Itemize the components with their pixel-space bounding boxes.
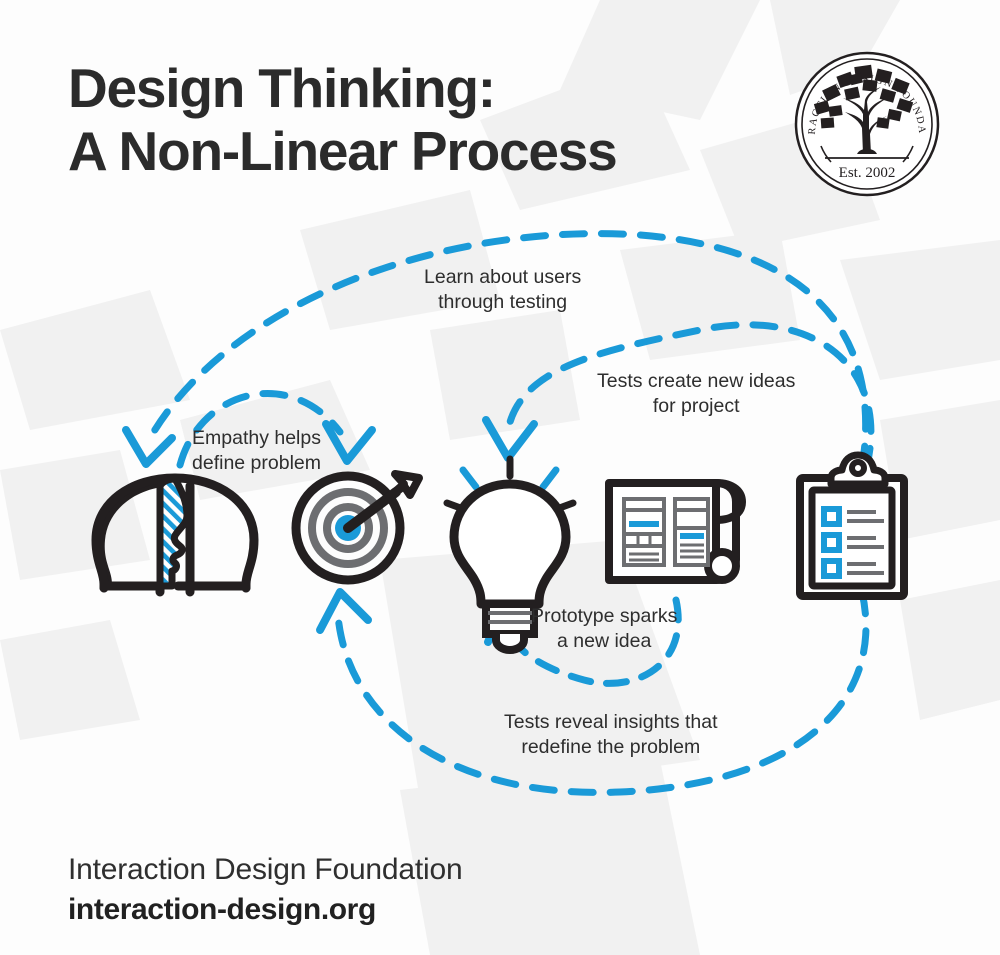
title-line-1: Design Thinking: [68, 57, 708, 120]
caption-empathy-defines-problem: Empathy helps define problem [192, 426, 321, 476]
title-line-2: A Non-Linear Process [68, 120, 708, 183]
caption-line: a new idea [531, 629, 677, 654]
idf-logo[interactable]: INTERACTION DESIGN FOUNDATION [793, 50, 941, 198]
infographic-poster: Design Thinking: A Non-Linear Process IN… [0, 0, 1000, 955]
blueprint-accent-bar-left [629, 521, 659, 527]
caption-line: define problem [192, 451, 321, 476]
footer: Interaction Design Foundation interactio… [68, 851, 462, 928]
target-bullseye-icon [296, 474, 419, 580]
caption-prototype-sparks-idea: Prototype sparks a new idea [531, 604, 677, 654]
blueprint-roll-icon [609, 483, 742, 580]
caption-line: Learn about users [424, 265, 581, 290]
page-title: Design Thinking: A Non-Linear Process [68, 57, 708, 182]
caption-line: Empathy helps [192, 426, 321, 451]
caption-line: Prototype sparks [531, 604, 677, 629]
caption-line: redefine the problem [504, 735, 718, 760]
caption-line: through testing [424, 290, 581, 315]
caption-line: Tests reveal insights that [504, 710, 718, 735]
caption-line: for project [597, 394, 795, 419]
two-heads-empathy-icon [96, 478, 254, 592]
footer-organization: Interaction Design Foundation [68, 851, 462, 889]
caption-learn-about-users: Learn about users through testing [424, 265, 581, 315]
idf-logo-seal: INTERACTION DESIGN FOUNDATION [793, 50, 941, 198]
caption-line: Tests create new ideas [597, 369, 795, 394]
logo-established-text: Est. 2002 [839, 165, 896, 181]
caption-tests-reveal-insights: Tests reveal insights that redefine the … [504, 710, 718, 760]
lightbulb-ray-upper-right [543, 470, 556, 487]
caption-tests-create-ideas: Tests create new ideas for project [597, 369, 795, 419]
footer-url[interactable]: interaction-design.org [68, 891, 462, 929]
blueprint-accent-bar-right [680, 533, 704, 539]
clipboard-checklist-icon [800, 455, 904, 596]
lightbulb-ray-upper-left [463, 470, 476, 487]
